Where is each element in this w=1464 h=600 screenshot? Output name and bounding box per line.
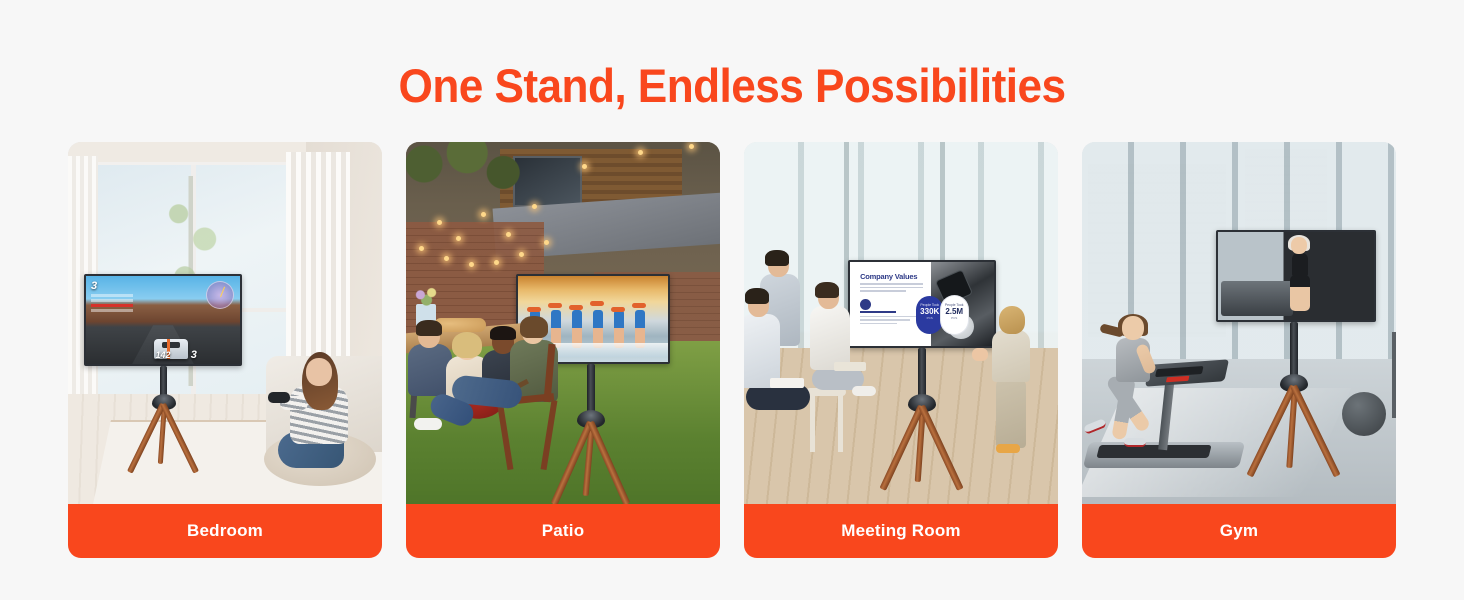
use-case-card-gym[interactable]: Gym [1082,142,1396,558]
slide-subtext [860,283,923,294]
game-hud-gear: 3 [191,349,197,361]
tree-foliage-icon [406,142,520,206]
stand-pole [587,364,595,416]
tv-screen-presentation: Company Values People Took 330K PCS Peop… [850,262,994,346]
stand-pole [1290,322,1298,380]
game-hud-dial-icon [206,281,234,309]
presenter-gesturing-hand [972,348,988,361]
attendee-hair [765,250,789,266]
stool-leg-back [810,394,815,452]
guitarist-shoe [414,418,442,430]
attendee-hair [815,282,839,298]
promo-banner: One Stand, Endless Possibilities [0,0,1464,600]
patio-party-scene [406,142,720,504]
video-trainer-runner [1287,237,1317,311]
slide-stat-2-5m: People Took 2.5M PCS [941,296,968,334]
guest-hair [416,320,442,336]
stat-unit: PCS [941,316,968,320]
presenter-heel-shoe [996,444,1020,453]
game-controller-icon [268,392,290,403]
attendee-notepad [834,362,866,371]
console-stop-button[interactable] [1166,376,1189,383]
trainer-legs [1290,275,1310,311]
presenter-torso [992,330,1030,382]
presenter-legs [996,378,1026,448]
guest-hair [490,326,516,340]
card-label-patio: Patio [406,504,720,558]
tv-screen-racing-game: 3 142 3 [86,276,240,364]
runner-legs [1098,378,1156,444]
tv-display [1216,230,1376,322]
card-label-gym: Gym [1082,504,1396,558]
game-hud-leaderboard [91,294,133,314]
gamer-person [276,352,352,470]
stat-value: 2.5M [941,307,968,316]
slide-stat-330k: People Took 330K PCS [916,296,943,334]
attendee-torso [810,306,850,370]
stat-unit: PCS [916,316,943,320]
video-treadmill [1221,281,1293,316]
card-label-bedroom: Bedroom [68,504,382,558]
tv-screen-fitness-video [1218,232,1374,320]
tv-display: 3 142 3 [84,274,242,366]
game-hud-position: 3 [91,280,97,292]
exercise-ball [1342,392,1386,436]
use-case-card-patio[interactable]: Patio [406,142,720,558]
stat-caption: People Took [941,303,968,307]
card-label-meeting-room: Meeting Room [744,504,1058,558]
trainer-head [1291,237,1307,254]
bedroom-gaming-scene: 3 142 3 [68,142,382,504]
meeting-room-presentation-scene: Company Values People Took 330K PCS Peop… [744,142,1058,504]
guest-hair [452,332,482,358]
trainer-torso [1292,253,1308,277]
runner-shoe-front [1124,438,1146,447]
runner-head [1122,316,1144,340]
guitarist-hair [520,316,548,338]
weight-rack [1392,332,1396,418]
use-case-card-bedroom[interactable]: 3 142 3 Bedroom [68,142,382,558]
presentation-slide: Company Values People Took 330K PCS Peop… [850,262,994,346]
attendee-hair [745,288,769,304]
page-title: One Stand, Endless Possibilities [44,58,1420,114]
game-hud-speed: 142 [155,350,170,360]
slide-bullet-icon [860,299,871,310]
attendee-notebook [770,378,804,388]
runner-person [1096,316,1162,446]
use-case-card-grid: 3 142 3 Bedroom [68,142,1396,558]
slide-title: Company Values [860,272,917,281]
stand-pole [918,348,926,400]
gamer-head [306,358,332,386]
treadmill-belt [1096,445,1211,458]
stool-leg-front [838,394,843,452]
slide-bullet-list [860,311,918,327]
attendee-torso [744,314,780,388]
presenter-hair [999,306,1025,334]
use-case-card-meeting-room[interactable]: Company Values People Took 330K PCS Peop… [744,142,1058,558]
attendee-shoe [852,386,876,396]
stat-value: 330K [916,307,943,316]
tv-display: Company Values People Took 330K PCS Peop… [848,260,996,348]
gym-treadmill-scene [1082,142,1396,504]
stat-caption: People Took [916,303,943,307]
